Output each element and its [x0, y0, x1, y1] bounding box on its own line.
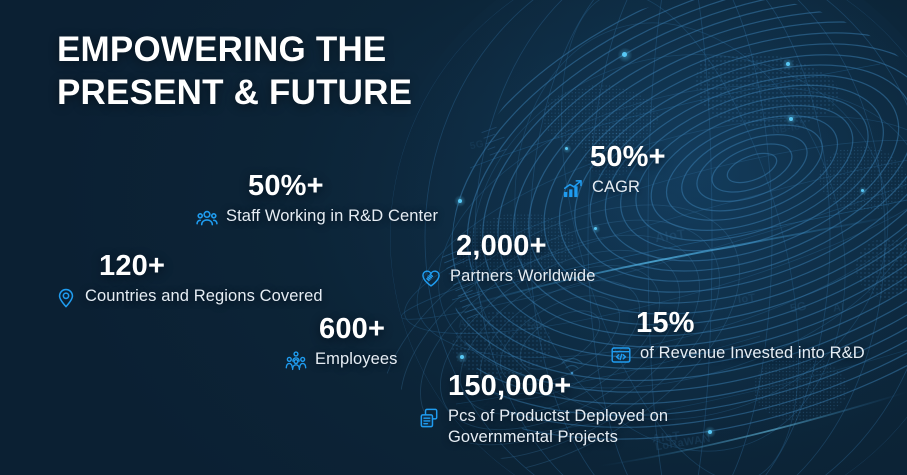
tech-label-aiot: AIoT [654, 226, 686, 245]
stat-cagr: 50%+ CAGR [562, 142, 666, 200]
employees-team-icon [285, 350, 307, 372]
stat-revenue-rd: 15% of Revenue Invested into R&D [610, 308, 865, 366]
stat-countries-regions: 120+ Countries and Regions Covered [55, 251, 323, 309]
stat-value-staff-rd-center: 50%+ [196, 171, 438, 201]
hero-slide: AIoTAIoT5G5GIoTAIAILoRaWANNB-IoT5G EMPOW… [0, 0, 907, 475]
tech-label-iot: IoT [737, 292, 756, 306]
globe-node-dot [594, 227, 597, 230]
stat-label-countries-regions: Countries and Regions Covered [85, 286, 323, 307]
stat-label-employees: Employees [315, 349, 398, 370]
tech-label-5g: 5G [526, 319, 543, 334]
globe-node-dot [861, 189, 864, 192]
globe-node-dot [786, 62, 790, 66]
stat-value-cagr: 50%+ [562, 142, 666, 172]
stat-label-cagr: CAGR [592, 177, 640, 198]
stat-value-revenue-rd: 15% [610, 308, 865, 338]
page-title: EMPOWERING THE PRESENT & FUTURE [57, 28, 412, 115]
stat-value-countries-regions: 120+ [55, 251, 323, 281]
stat-row-staff-rd-center: Staff Working in R&D Center [196, 206, 438, 229]
stat-value-employees: 600+ [285, 314, 398, 344]
stat-row-countries-regions: Countries and Regions Covered [55, 286, 323, 309]
bar-chart-growth-icon [562, 178, 584, 200]
globe-node-dot [460, 355, 464, 359]
globe-node-dot [458, 199, 462, 203]
stat-staff-rd-center: 50%+ Staff Working in R&D Center [196, 171, 438, 229]
globe-node-dot [789, 117, 793, 121]
stat-employees: 600+ Employees [285, 314, 398, 372]
location-pin-icon [55, 287, 77, 309]
code-window-icon [610, 344, 632, 366]
stacked-products-icon [418, 407, 440, 429]
globe-node-dot [622, 52, 627, 57]
stat-label-partners-worldwide: Partners Worldwide [450, 266, 595, 287]
stat-label-products-deployed: Pcs of Productst Deployed on Governmenta… [448, 406, 668, 448]
stat-products-deployed: 150,000+ Pcs of Productst Deployed on Go… [418, 371, 668, 448]
stat-row-partners-worldwide: Partners Worldwide [420, 266, 595, 289]
users-group-icon [196, 207, 218, 229]
stat-row-revenue-rd: of Revenue Invested into R&D [610, 343, 865, 366]
stat-partners-worldwide: 2,000+ Partners Worldwide [420, 231, 595, 289]
stat-label-staff-rd-center: Staff Working in R&D Center [226, 206, 438, 227]
stat-row-employees: Employees [285, 349, 398, 372]
stat-row-cagr: CAGR [562, 177, 666, 200]
tech-label-nb-iot: NB-IoT [771, 120, 808, 137]
stat-label-revenue-rd: of Revenue Invested into R&D [640, 343, 865, 364]
stat-value-products-deployed: 150,000+ [418, 371, 668, 401]
stat-value-partners-worldwide: 2,000+ [420, 231, 595, 261]
stat-row-products-deployed: Pcs of Productst Deployed on Governmenta… [418, 406, 668, 448]
globe-node-dot [708, 430, 712, 434]
tech-label-5g: 5G [469, 139, 485, 153]
handshake-heart-icon [420, 267, 442, 289]
tech-label-ai: AI [457, 317, 470, 330]
